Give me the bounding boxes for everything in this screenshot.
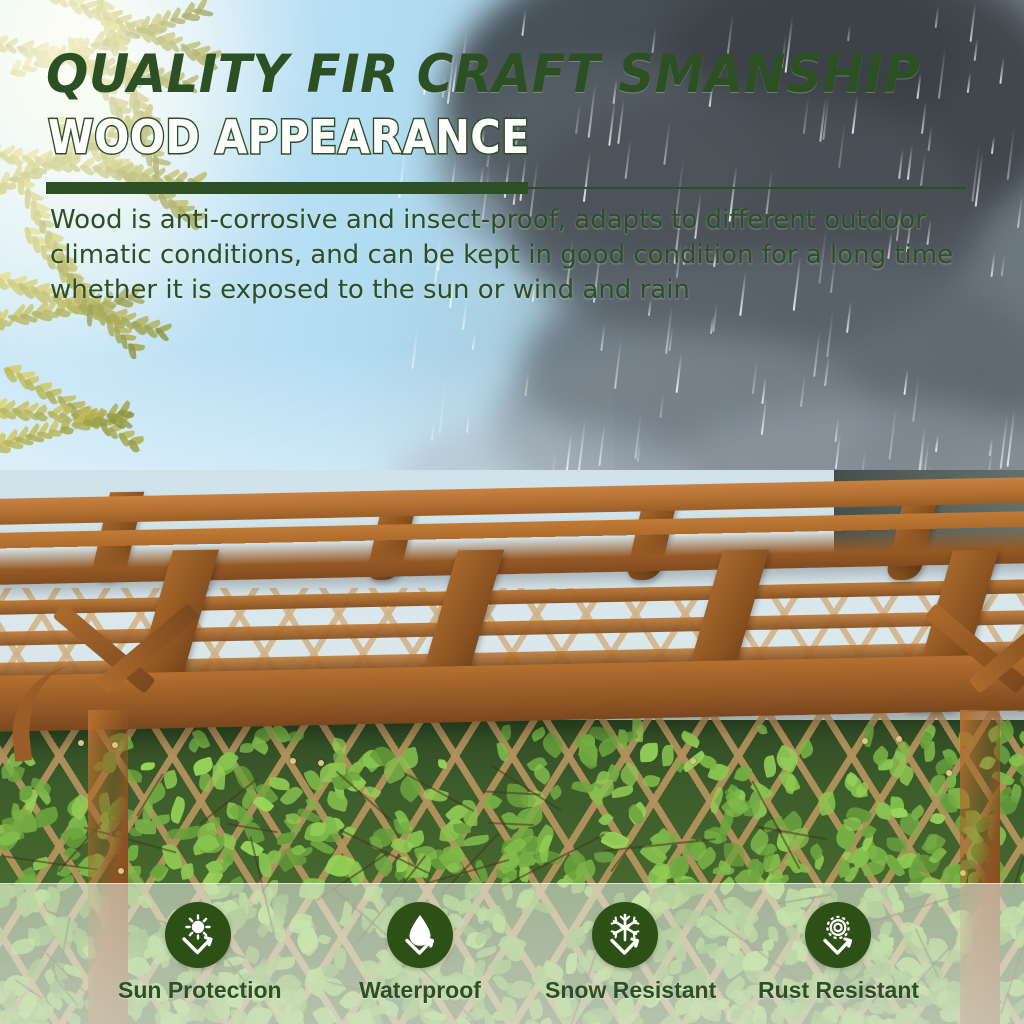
body-description: Wood is anti-corrosive and insect-proof,… — [50, 203, 995, 307]
divider-thin-line — [528, 187, 966, 189]
water-drop-shield-icon — [387, 902, 453, 968]
feature-item-waterproof[interactable]: Waterproof — [340, 902, 500, 1004]
page-subtitle: WOOD APPEARANCE — [48, 114, 530, 160]
feature-label: Snow Resistant — [545, 977, 705, 1004]
feature-label: Rust Resistant — [758, 977, 918, 1004]
feature-list: Sun Protection Waterproof — [0, 884, 1024, 1024]
feature-label: Waterproof — [340, 977, 500, 1004]
divider-thick-bar — [46, 182, 528, 194]
feature-item-rust-resistant[interactable]: Rust Resistant — [758, 902, 918, 1004]
feature-item-sun-protection[interactable]: Sun Protection — [118, 902, 278, 1004]
page-title: QUALITY FIR CRAFT SMANSHIP — [46, 48, 920, 101]
sun-shield-icon — [165, 902, 231, 968]
feature-item-snow-resistant[interactable]: Snow Resistant — [545, 902, 705, 1004]
title-divider — [46, 182, 966, 194]
feature-label: Sun Protection — [118, 977, 278, 1004]
snowflake-shield-icon — [592, 902, 658, 968]
gear-shield-icon — [805, 902, 871, 968]
product-feature-banner: QUALITY FIR CRAFT SMANSHIP WOOD APPEARAN… — [0, 0, 1024, 1024]
